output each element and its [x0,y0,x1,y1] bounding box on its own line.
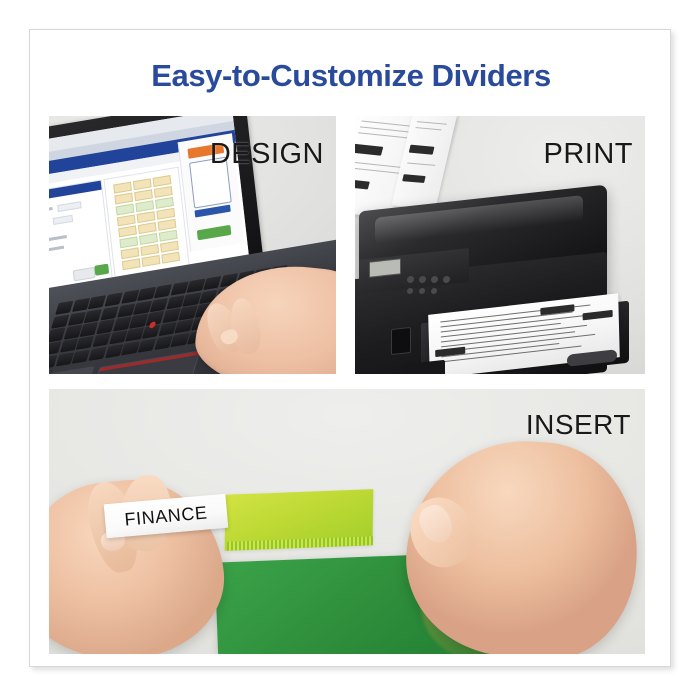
label-cell [160,241,179,253]
paper-label-text: FINANCE [124,502,209,530]
label-cell [142,255,161,267]
label-sheet-preview [103,167,190,281]
label-cell [159,230,178,242]
option-field [53,215,74,225]
palm-rest [49,366,94,374]
panel-label-design: DESIGN [210,138,324,171]
label-grid [113,175,180,270]
label-cell [135,200,154,212]
label-cell [119,236,138,248]
panel-print: PRINT [355,116,645,374]
option-label [49,207,53,215]
label-cell [156,208,175,220]
product-image-card: Easy-to-Customize Dividers [29,29,671,667]
label-cell [121,247,140,259]
label-cell [114,193,133,205]
label-cell [118,225,137,237]
label-cell [155,197,174,209]
printer-memory-card-slot[interactable] [391,327,411,355]
panel-label-print: PRINT [544,138,634,171]
option-label [49,235,67,244]
label-cell [113,182,132,194]
label-cell [122,258,141,270]
label-cell [154,186,173,198]
page-title: Easy-to-Customize Dividers [30,58,672,94]
option-field [57,201,81,212]
page-root: Easy-to-Customize Dividers [0,0,700,700]
label-cell [137,211,156,223]
next-step-button[interactable] [197,225,232,241]
label-cell [134,189,153,201]
panel-label-insert: INSERT [526,409,631,441]
label-cell [161,252,180,264]
label-cell [153,175,172,187]
label-cell [140,244,159,256]
label-cell [138,222,157,234]
option-label [49,246,64,254]
cancel-button[interactable] [73,267,96,282]
label-cell [133,178,152,190]
panel-insert: FINANCE INSERT [49,389,645,654]
label-cell [116,204,135,216]
label-cell [117,214,136,226]
panel-design: DESIGN [49,116,336,374]
apply-button[interactable] [94,264,109,276]
label-cell [139,233,158,245]
label-cell [158,219,177,231]
